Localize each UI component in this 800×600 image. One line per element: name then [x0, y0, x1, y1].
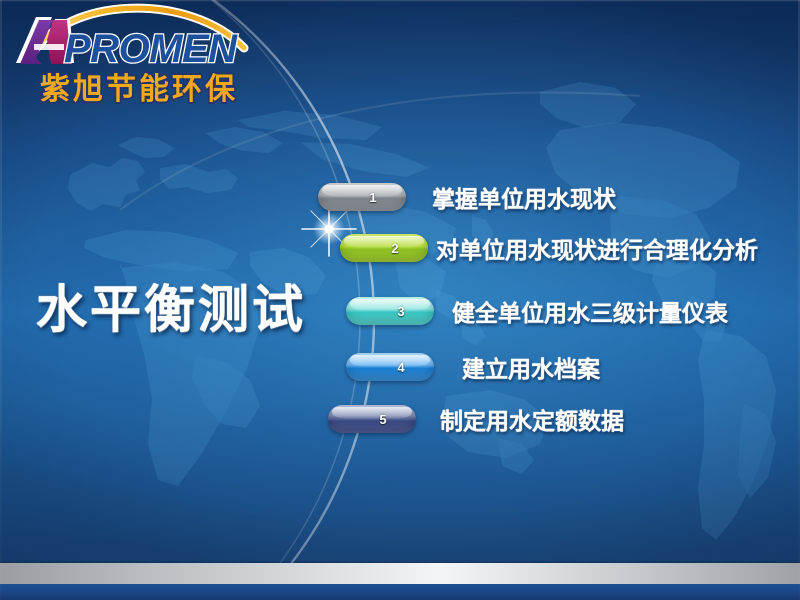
list-item[interactable]: 4 建立用水档案: [346, 350, 600, 384]
step-number: 4: [397, 360, 404, 375]
list-item-label: 对单位用水现状进行合理化分析: [436, 231, 758, 265]
slide-left-edge: [0, 0, 2, 600]
list-item-label: 掌握单位用水现状: [432, 180, 616, 214]
step-badge-3[interactable]: 3: [346, 297, 434, 325]
list-item-label: 制定用水定额数据: [440, 402, 624, 436]
footer-silver-bar: [0, 563, 800, 584]
step-number: 1: [369, 190, 376, 205]
step-number: 2: [391, 241, 398, 256]
presentation-slide: PROMEN 紫旭节能环保 水平衡测试: [0, 0, 800, 600]
list-item-label: 健全单位用水三级计量仪表: [452, 294, 728, 328]
list-item-label: 建立用水档案: [462, 350, 600, 384]
objectives-list: 1 掌握单位用水现状 2 对单位用水现状进行合理化分析 3 健全单位用水三级计量…: [0, 0, 800, 600]
list-item[interactable]: 2 对单位用水现状进行合理化分析: [340, 231, 758, 265]
list-item[interactable]: 5 制定用水定额数据: [328, 402, 624, 436]
step-badge-5[interactable]: 5: [328, 405, 416, 433]
step-number: 3: [397, 304, 404, 319]
step-badge-2[interactable]: 2: [340, 234, 428, 262]
footer-blue-strip: [0, 584, 800, 600]
list-item[interactable]: 1 掌握单位用水现状: [318, 180, 616, 214]
list-item[interactable]: 3 健全单位用水三级计量仪表: [346, 294, 728, 328]
step-badge-4[interactable]: 4: [346, 353, 434, 381]
slide-top-edge: [0, 0, 800, 2]
step-badge-1[interactable]: 1: [318, 183, 406, 211]
step-number: 5: [379, 412, 386, 427]
